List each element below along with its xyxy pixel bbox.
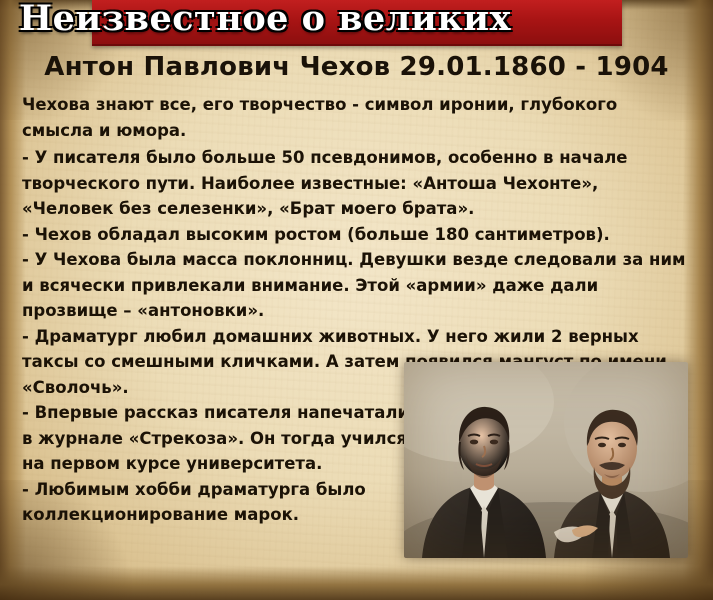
fact-paragraph: - Чехов обладал высоким ростом (больше 1…: [22, 222, 690, 248]
fact-paragraph: - Впервые рассказ писателя напечатали в …: [22, 400, 422, 477]
subject-name-and-dates: Антон Павлович Чехов 29.01.1860 - 1904: [0, 52, 713, 82]
fact-paragraph: - У Чехова была масса поклонниц. Девушки…: [22, 247, 690, 324]
poster-title: Неизвестное о великих: [0, 0, 530, 39]
portrait-photo: [404, 362, 688, 558]
poster-page: Неизвестное о великих Антон Павлович Чех…: [0, 0, 713, 600]
fact-paragraph: - У писателя было больше 50 псевдонимов,…: [22, 145, 690, 222]
book-edge-bottom: [0, 566, 713, 600]
fact-paragraph: Чехова знают все, его творчество - симво…: [22, 92, 690, 143]
fact-paragraph: - Любимым хобби драматурга было коллекци…: [22, 477, 422, 528]
